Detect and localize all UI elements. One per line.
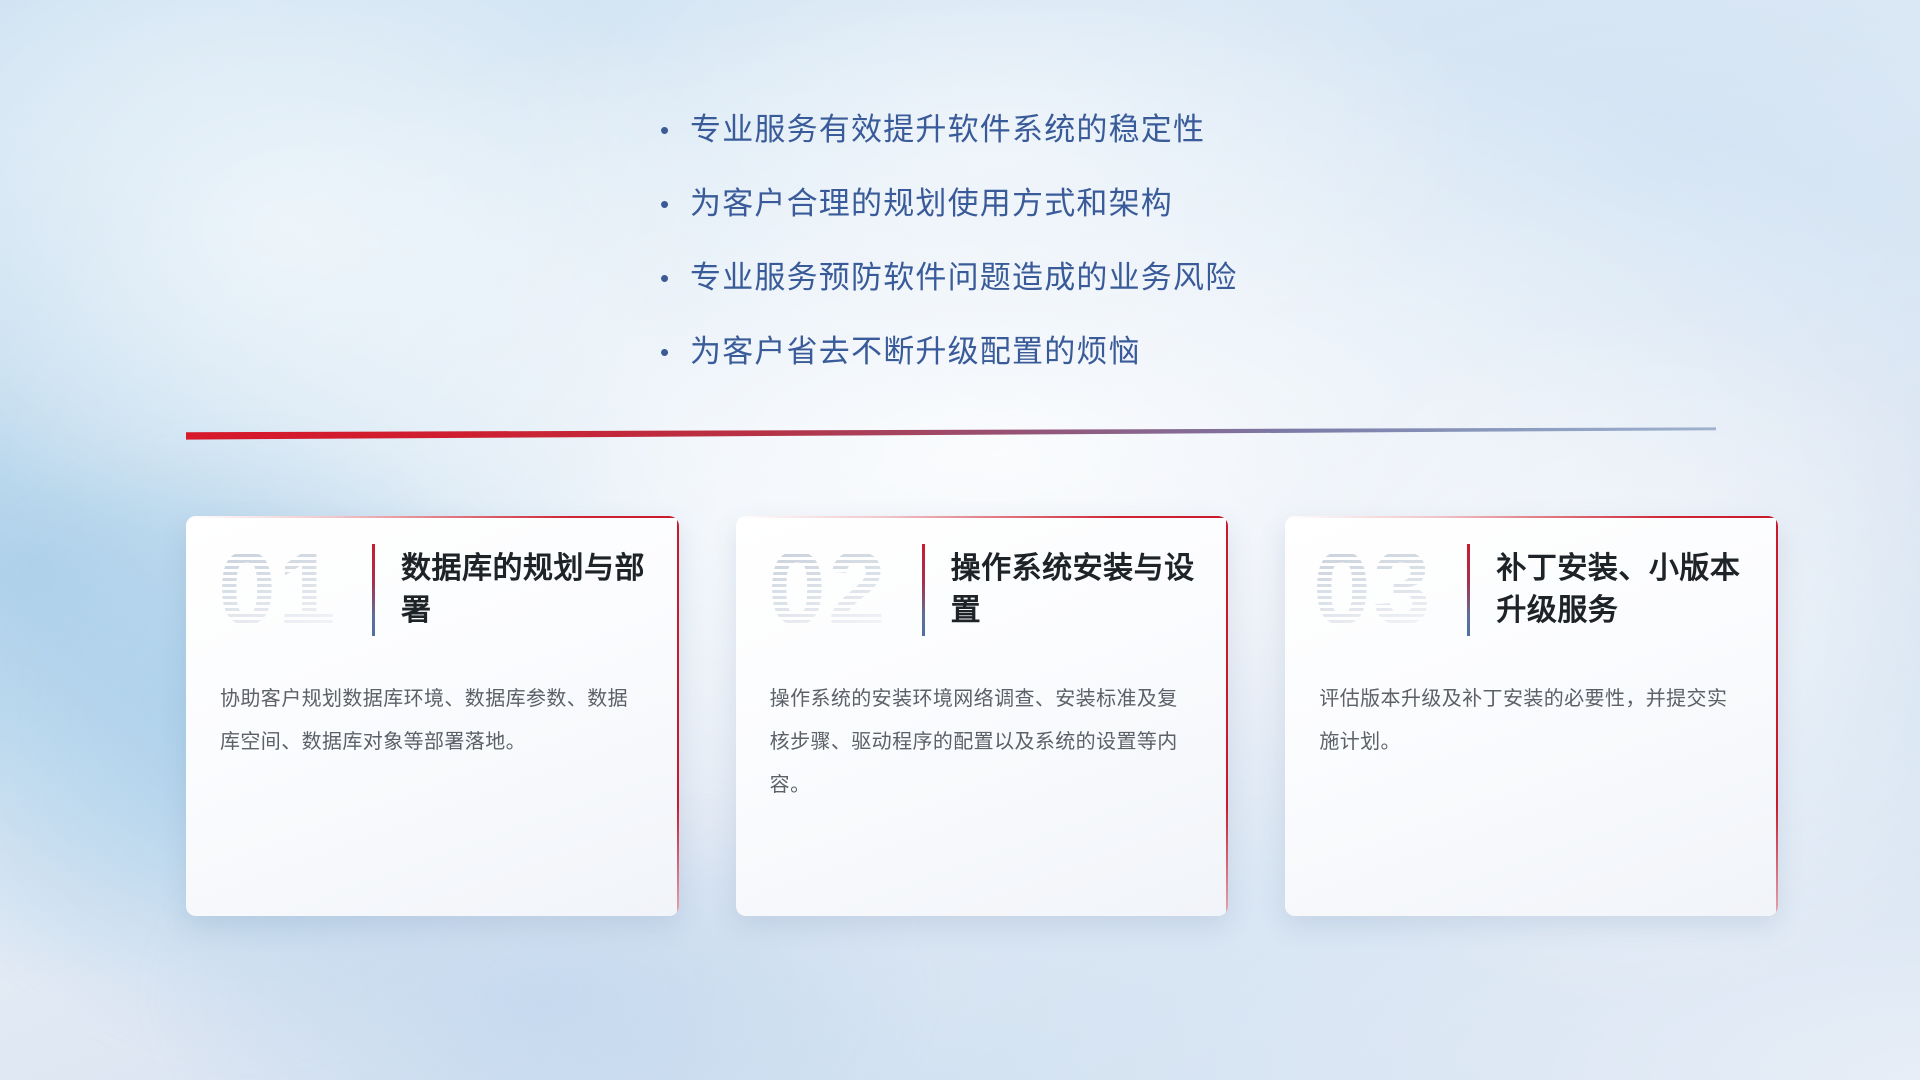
card-title-divider	[372, 544, 375, 636]
svg-text:02: 02	[768, 536, 888, 644]
service-card-03[interactable]: 03 补丁安装、小版本升级服务 评估版本升级及补丁安装的必要性，并提交实施计划。	[1285, 516, 1778, 916]
bullet-point-icon: •	[660, 108, 690, 152]
card-number-watermark: 03	[1311, 536, 1459, 644]
card-title-divider	[922, 544, 925, 636]
service-card-02[interactable]: 02 操作系统安装与设置 操作系统的安装环境网络调查、安装标准及复核步骤、驱动程…	[736, 516, 1229, 916]
striped-number-icon: 03	[1311, 536, 1459, 644]
bullet-point-icon: •	[660, 256, 690, 300]
bullet-point-icon: •	[660, 182, 690, 226]
card-header: 03 补丁安装、小版本升级服务	[1285, 516, 1778, 664]
list-item: • 专业服务预防软件问题造成的业务风险	[660, 256, 1420, 300]
list-item: • 专业服务有效提升软件系统的稳定性	[660, 108, 1420, 152]
bullet-text: 为客户省去不断升级配置的烦恼	[690, 330, 1141, 374]
tapered-divider-icon	[186, 424, 1716, 444]
card-description: 评估版本升级及补丁安装的必要性，并提交实施计划。	[1285, 664, 1778, 764]
striped-number-icon: 01	[216, 536, 364, 644]
list-item: • 为客户合理的规划使用方式和架构	[660, 182, 1420, 226]
card-title-divider	[1467, 544, 1470, 636]
service-card-list: 01 数据库的规划与部署 协助客户规划数据库环境、数据库参数、数据库空间、数据库…	[186, 516, 1778, 916]
list-item: • 为客户省去不断升级配置的烦恼	[660, 330, 1420, 374]
striped-number-icon: 02	[766, 536, 914, 644]
section-divider	[186, 424, 1716, 444]
card-number-watermark: 01	[216, 536, 364, 644]
card-header: 02 操作系统安装与设置	[736, 516, 1229, 664]
svg-text:01: 01	[218, 536, 338, 644]
card-title: 补丁安装、小版本升级服务	[1496, 548, 1752, 632]
svg-text:03: 03	[1313, 536, 1433, 644]
card-header: 01 数据库的规划与部署	[186, 516, 679, 664]
bullet-point-icon: •	[660, 330, 690, 374]
card-title: 操作系统安装与设置	[951, 548, 1203, 632]
card-description: 操作系统的安装环境网络调查、安装标准及复核步骤、驱动程序的配置以及系统的设置等内…	[736, 664, 1229, 807]
benefits-bullet-list: • 专业服务有效提升软件系统的稳定性 • 为客户合理的规划使用方式和架构 • 专…	[660, 108, 1420, 404]
card-description: 协助客户规划数据库环境、数据库参数、数据库空间、数据库对象等部署落地。	[186, 664, 679, 764]
bullet-text: 专业服务预防软件问题造成的业务风险	[690, 256, 1237, 300]
bullet-text: 专业服务有效提升软件系统的稳定性	[690, 108, 1205, 152]
service-card-01[interactable]: 01 数据库的规划与部署 协助客户规划数据库环境、数据库参数、数据库空间、数据库…	[186, 516, 679, 916]
card-number-watermark: 02	[766, 536, 914, 644]
card-title: 数据库的规划与部署	[401, 548, 653, 632]
bullet-text: 为客户合理的规划使用方式和架构	[690, 182, 1173, 226]
